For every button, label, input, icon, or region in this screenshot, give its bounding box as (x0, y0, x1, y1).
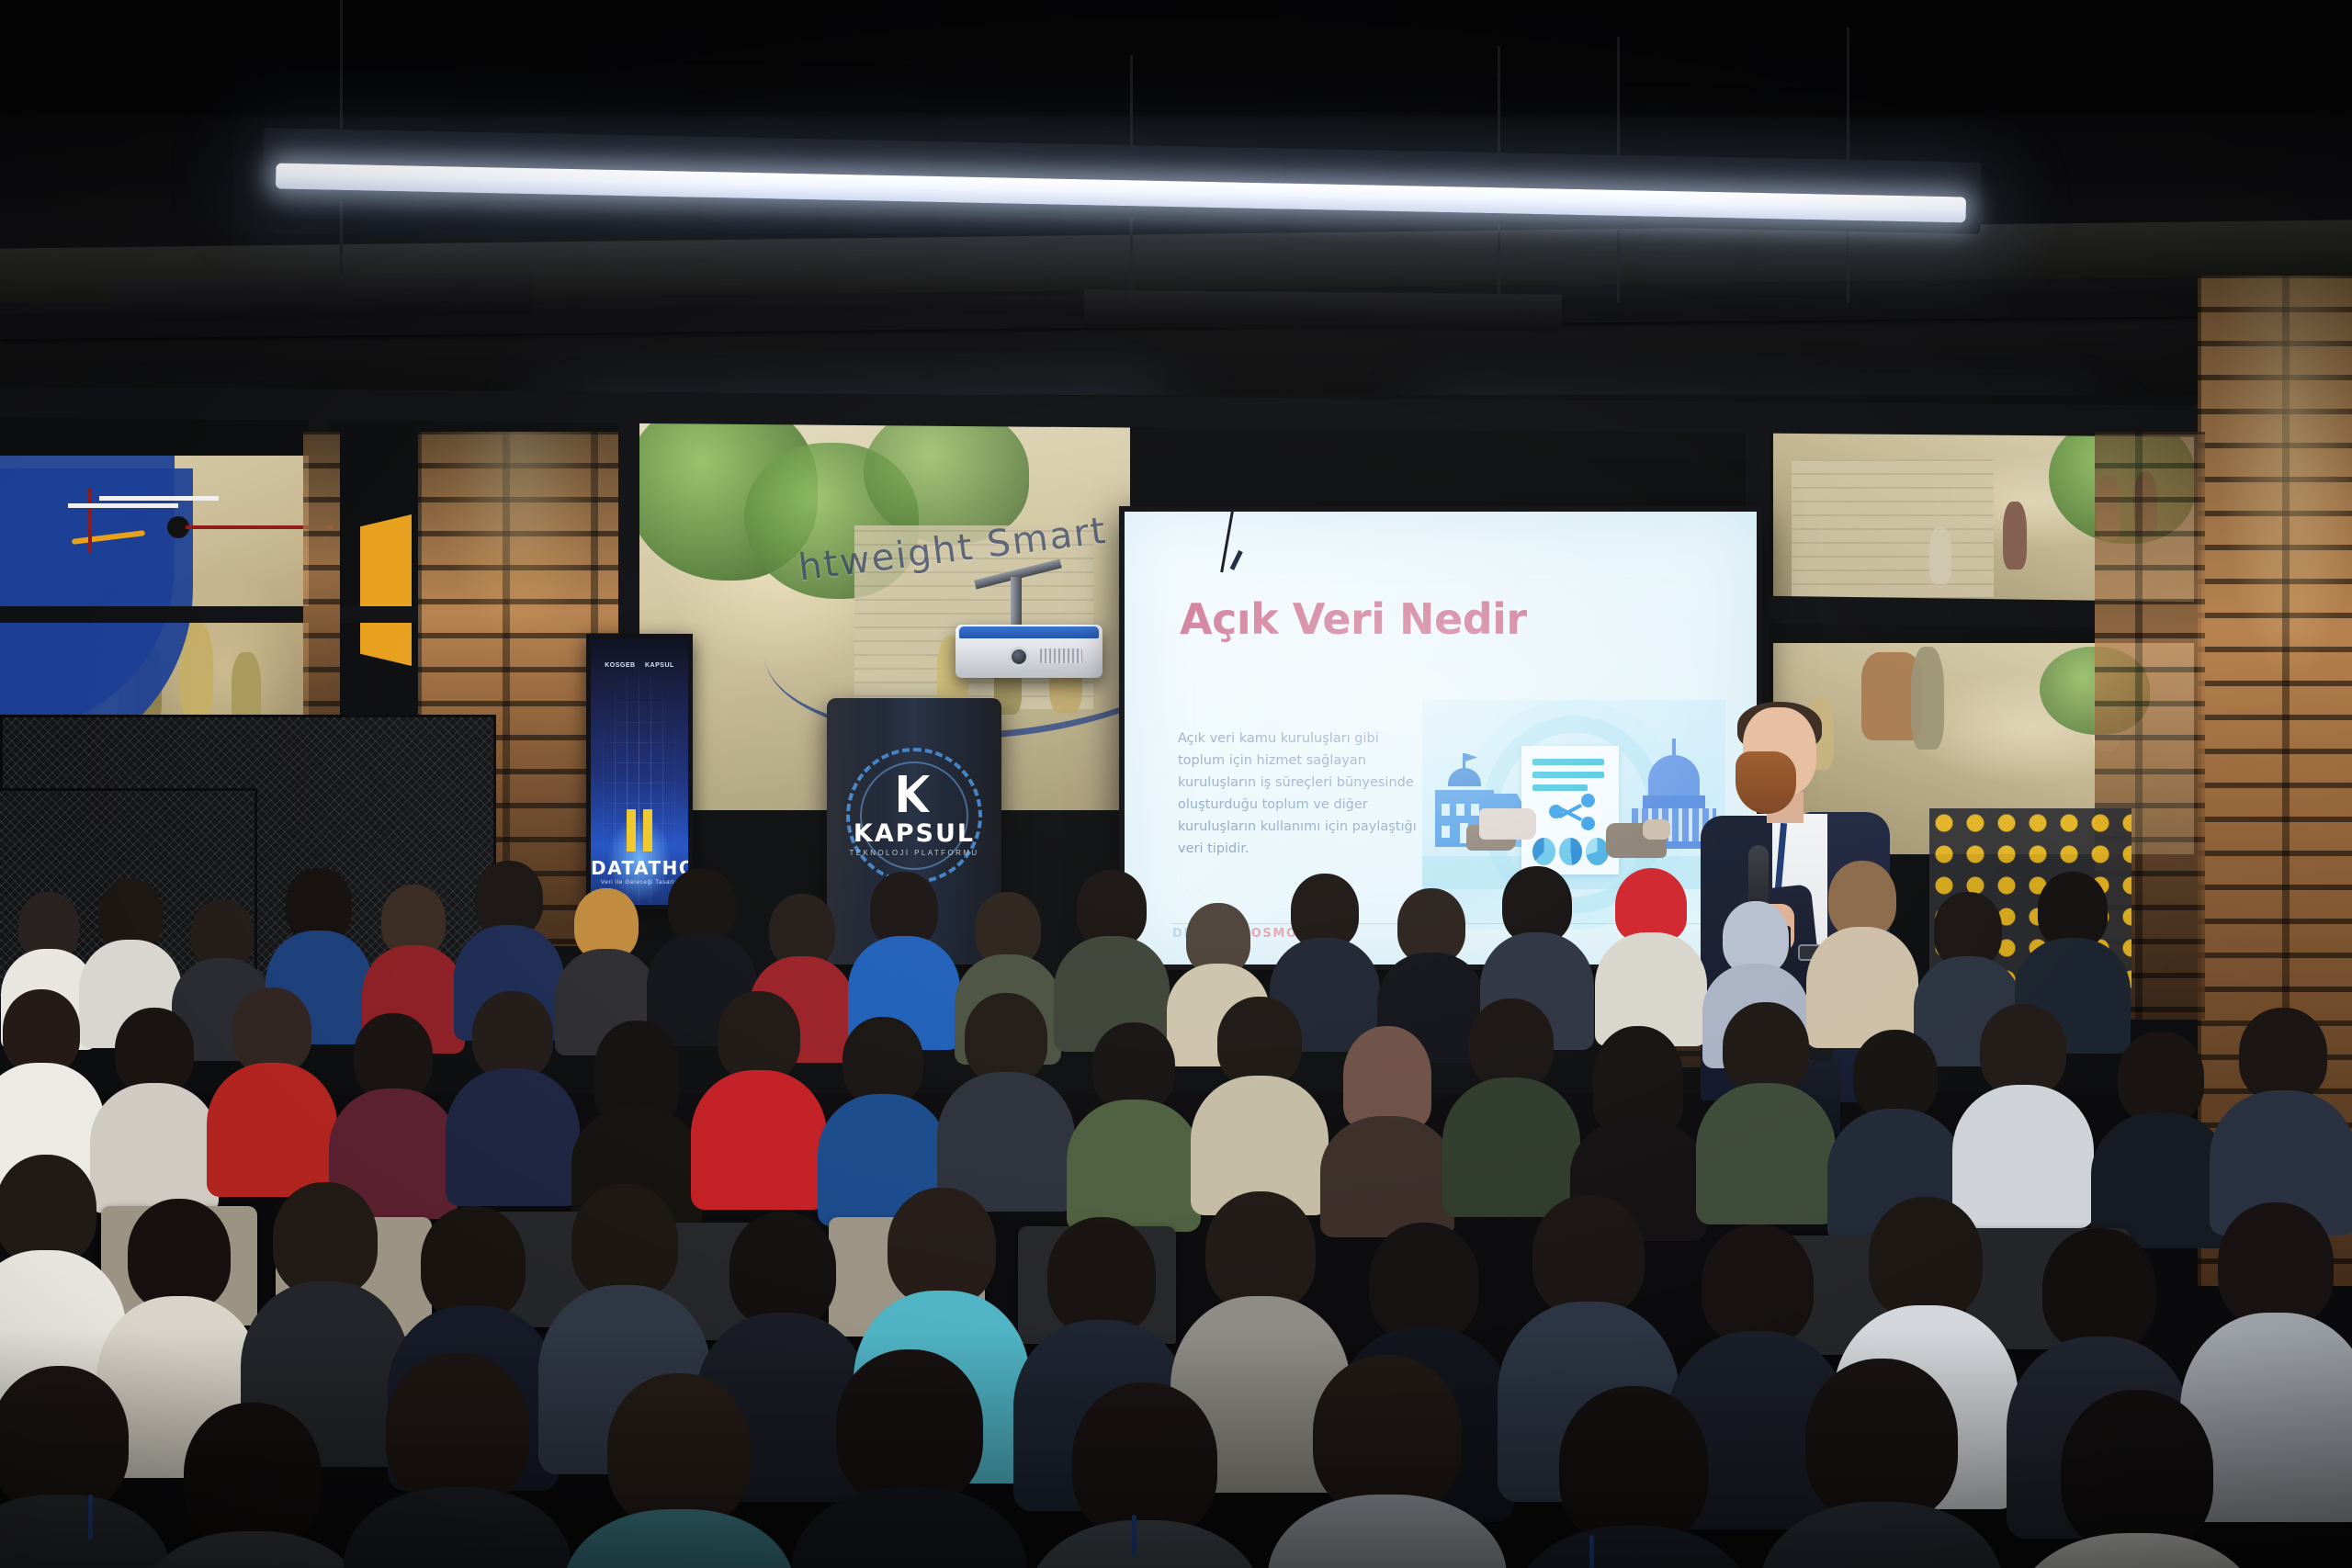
audience-member (1457, 998, 1566, 1186)
audience-member (952, 993, 1060, 1180)
audience-member (342, 1013, 445, 1188)
audience-member (1841, 1030, 1950, 1210)
audience-member (88, 879, 173, 1026)
mural-line (99, 496, 219, 501)
audience-member (367, 1353, 548, 1568)
audience-member (1968, 1004, 2078, 1195)
hand-icon (1479, 808, 1536, 840)
audience-member (1066, 870, 1158, 1026)
audience-member (2223, 1008, 2343, 1199)
audience-member (831, 1017, 935, 1195)
audience-member (588, 1373, 770, 1568)
audience-member (564, 888, 649, 1028)
audience-member (1711, 1002, 1821, 1191)
share-network-icon (1549, 794, 1597, 830)
conference-scene-photo: htweight Smart M (0, 0, 2352, 1568)
audience-member (165, 1403, 340, 1568)
mural-orange-shape (360, 514, 412, 666)
audience-member-red-cap (1606, 868, 1696, 1022)
audience-member (371, 885, 456, 1028)
audience-member (1294, 1355, 1481, 1568)
lanyard (1589, 1535, 1594, 1568)
lanyard (1132, 1515, 1136, 1557)
projector-lens (1009, 647, 1029, 667)
audience-member (1786, 1359, 1977, 1568)
projector-mount (1011, 577, 1022, 628)
sponsor-logo-right: KAPSUL (645, 662, 674, 669)
audience-member (860, 872, 948, 1024)
audience-member (220, 987, 323, 1168)
audience-member (818, 1349, 1001, 1568)
lanyard (88, 1495, 93, 1540)
slide-body-text: Açık veri kamu kuruluşları gibi toplum i… (1178, 728, 1424, 861)
audience-member (1053, 1382, 1237, 1568)
audience-member (1205, 997, 1314, 1184)
ceiling-projector (955, 625, 1102, 678)
audience-member (459, 991, 566, 1175)
audience-member (103, 1008, 206, 1182)
audience-member (1540, 1386, 1727, 1568)
projector-vent (1040, 649, 1082, 663)
audience-member-hijab (1334, 1026, 1441, 1202)
audience-member (1080, 1022, 1187, 1199)
audience-member (1817, 861, 1907, 1024)
audience-member (0, 989, 92, 1164)
audience-member (0, 1366, 147, 1568)
audience-member (0, 1155, 110, 1393)
audience-member (2040, 1390, 2234, 1568)
audience-member (2106, 1032, 2216, 1213)
audience-member-hijab (584, 1021, 689, 1197)
audience-member-hijab (1584, 1026, 1692, 1206)
slide-title: Açık Veri Nedir (1180, 594, 1527, 644)
audience: LES BENJAMINS (0, 852, 2352, 1568)
presenter-beard (1736, 751, 1796, 814)
datathon-bars-mark (627, 809, 652, 852)
audience-member (706, 991, 812, 1179)
hand-icon (1643, 819, 1670, 840)
datathon-sponsor-logos: KOSGEB KAPSUL (591, 662, 688, 669)
sponsor-logo-left: KOSGEB (605, 662, 635, 669)
